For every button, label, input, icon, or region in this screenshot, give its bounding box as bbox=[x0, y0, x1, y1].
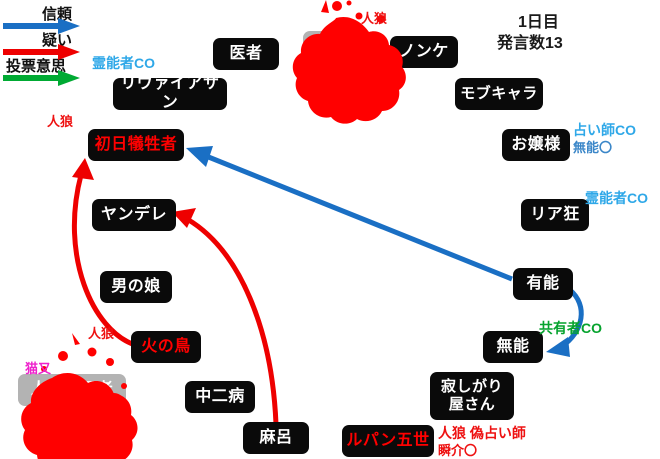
legend-arrow-vote-icon bbox=[3, 70, 80, 86]
legend-arrow-trust-icon bbox=[3, 18, 80, 34]
legend-arrows bbox=[0, 0, 660, 457]
werewolf-relationship-diagram: 信頼 疑い 投票意思 1日目 発言数13 bbox=[0, 0, 660, 457]
legend-arrow-suspicion-icon bbox=[3, 44, 80, 60]
